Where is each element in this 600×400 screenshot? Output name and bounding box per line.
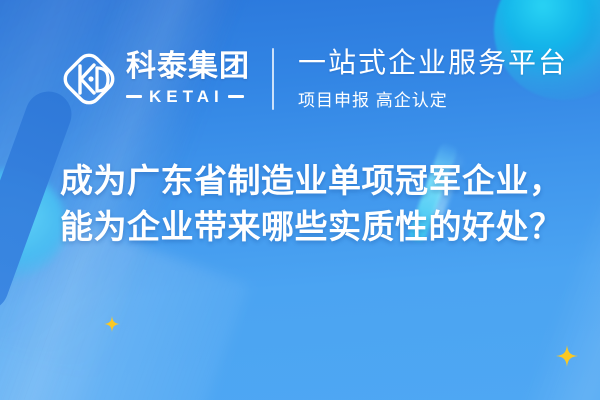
page-title-line-2: 能为企业带来哪些实质性的好处？ <box>60 204 550 250</box>
cyan-blob-decoration <box>0 170 66 280</box>
slogan-main-text: 一站式企业服务平台 <box>298 47 568 79</box>
logo-dash-right-icon <box>228 95 244 98</box>
logo-dash-left-icon <box>126 95 142 98</box>
sparkle-star-right-icon <box>556 345 578 367</box>
promo-banner: 科泰集团 KETAI 一站式企业服务平台 项目申报 高企认定 成为广东省制造业单… <box>0 0 600 400</box>
slogan-sub-text: 项目申报 高企认定 <box>298 86 568 111</box>
page-title-line-1: 成为广东省制造业单项冠军企业， <box>60 158 550 204</box>
header-slogan: 一站式企业服务平台 项目申报 高企认定 <box>298 47 568 111</box>
logo-wordmark: 科泰集团 KETAI <box>126 51 250 107</box>
banner-header: 科泰集团 KETAI 一站式企业服务平台 项目申报 高企认定 <box>60 42 568 116</box>
header-divider <box>272 48 274 110</box>
logo-english-name: KETAI <box>149 87 224 107</box>
banner-title-block: 成为广东省制造业单项冠军企业， 能为企业带来哪些实质性的好处？ <box>60 158 550 250</box>
logo-chinese-name: 科泰集团 <box>126 51 250 83</box>
logo-english-row: KETAI <box>126 87 250 107</box>
sparkle-star-left-icon <box>104 316 120 332</box>
background-diagonal-band-3 <box>462 114 600 400</box>
ketai-diamond-kd-logo-icon <box>60 48 118 110</box>
